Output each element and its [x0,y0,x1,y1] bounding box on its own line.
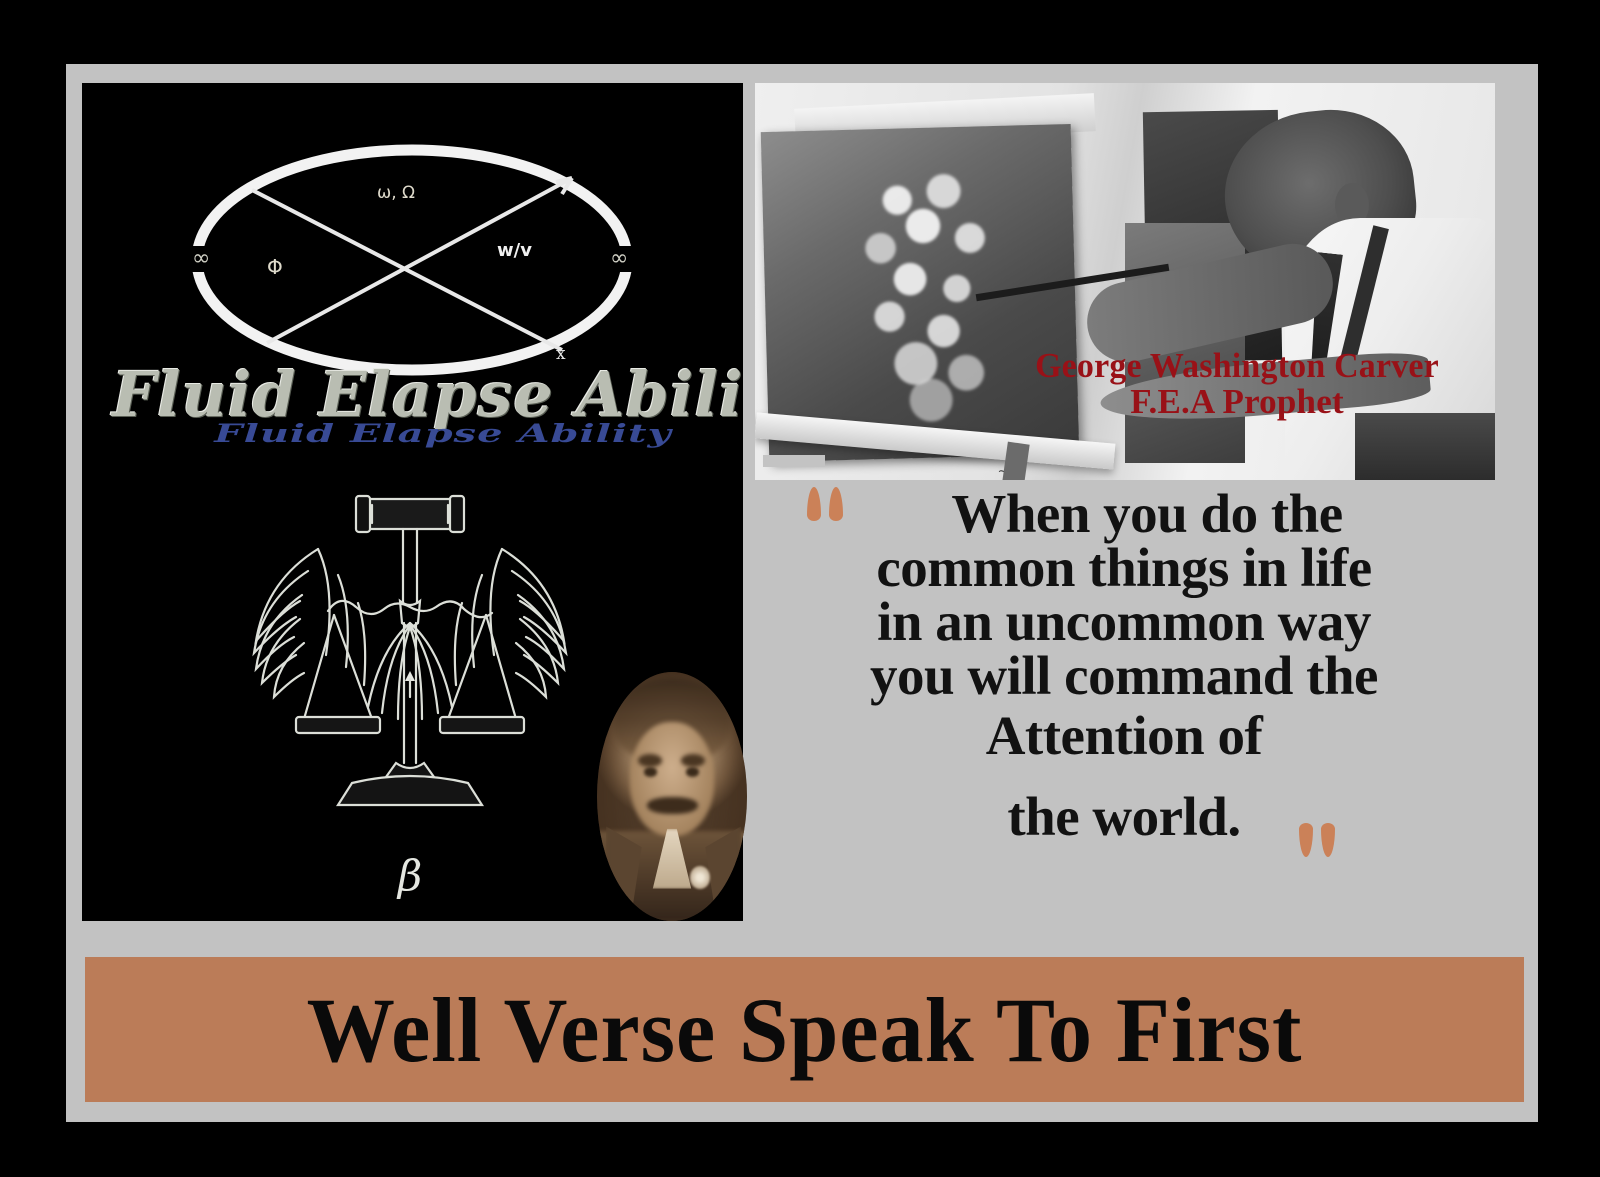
ellipse-label-infinity-left: ∞ [192,246,210,271]
portrait-face [630,722,714,837]
banner-title: Well Verse Speak To First [114,957,1495,1102]
close-quote-mark-1 [1299,823,1313,857]
quote-line-4: you will command the [750,649,1498,703]
quote-line-3: in an uncommon way [750,595,1498,649]
ellipse-label-wv: w/v [497,240,532,261]
portrait-eye-left [644,767,658,777]
photo-corner-tag [763,455,825,467]
photo-carver-trousers [1355,413,1495,480]
portrait-brow-left [638,754,662,766]
close-quote-mark-2 [1321,823,1335,857]
photo-caption-name: George Washington Carver [995,348,1480,384]
photo-caption-title: F.E.A Prophet [987,384,1487,420]
ellipse-label-infinity-right: ∞ [610,246,628,271]
ellipse-label-phi: Φ [267,255,283,279]
fea-wordmark-shadow: Fluid Elapse Ability [138,419,743,448]
quote-line-2: common things in life [750,541,1498,595]
carver-portrait-avatar [597,672,747,921]
fea-wordmark: Fluid Elapse Ability Fluid Elapse Abilit… [112,358,722,478]
carver-painting-photo: ∼ George Washington Carver F.E.A Prophet [755,83,1495,480]
quote-line-1: When you do the [796,487,1498,541]
poster-root: ω, Ω Φ w/v ∞ ∞ x Fluid Elapse Ability Fl… [0,0,1600,1177]
portrait-moustache [647,797,698,814]
portrait-eye-right [686,767,700,777]
bottom-banner: Well Verse Speak To First [85,957,1524,1102]
ellipse-label-omega: ω, Ω [377,183,415,203]
winged-scales-icon: β [200,483,620,873]
portrait-boutonniere [690,866,710,888]
quote-line-6: the world. [750,790,1498,844]
quote-line-5: Attention of [750,709,1498,763]
carver-quote-block: When you do the common things in life in… [750,487,1498,887]
photo-caption: George Washington Carver F.E.A Prophet [987,348,1487,419]
portrait-brow-right [681,754,705,766]
scales-svg [200,483,620,848]
beta-symbol: β [200,851,620,900]
